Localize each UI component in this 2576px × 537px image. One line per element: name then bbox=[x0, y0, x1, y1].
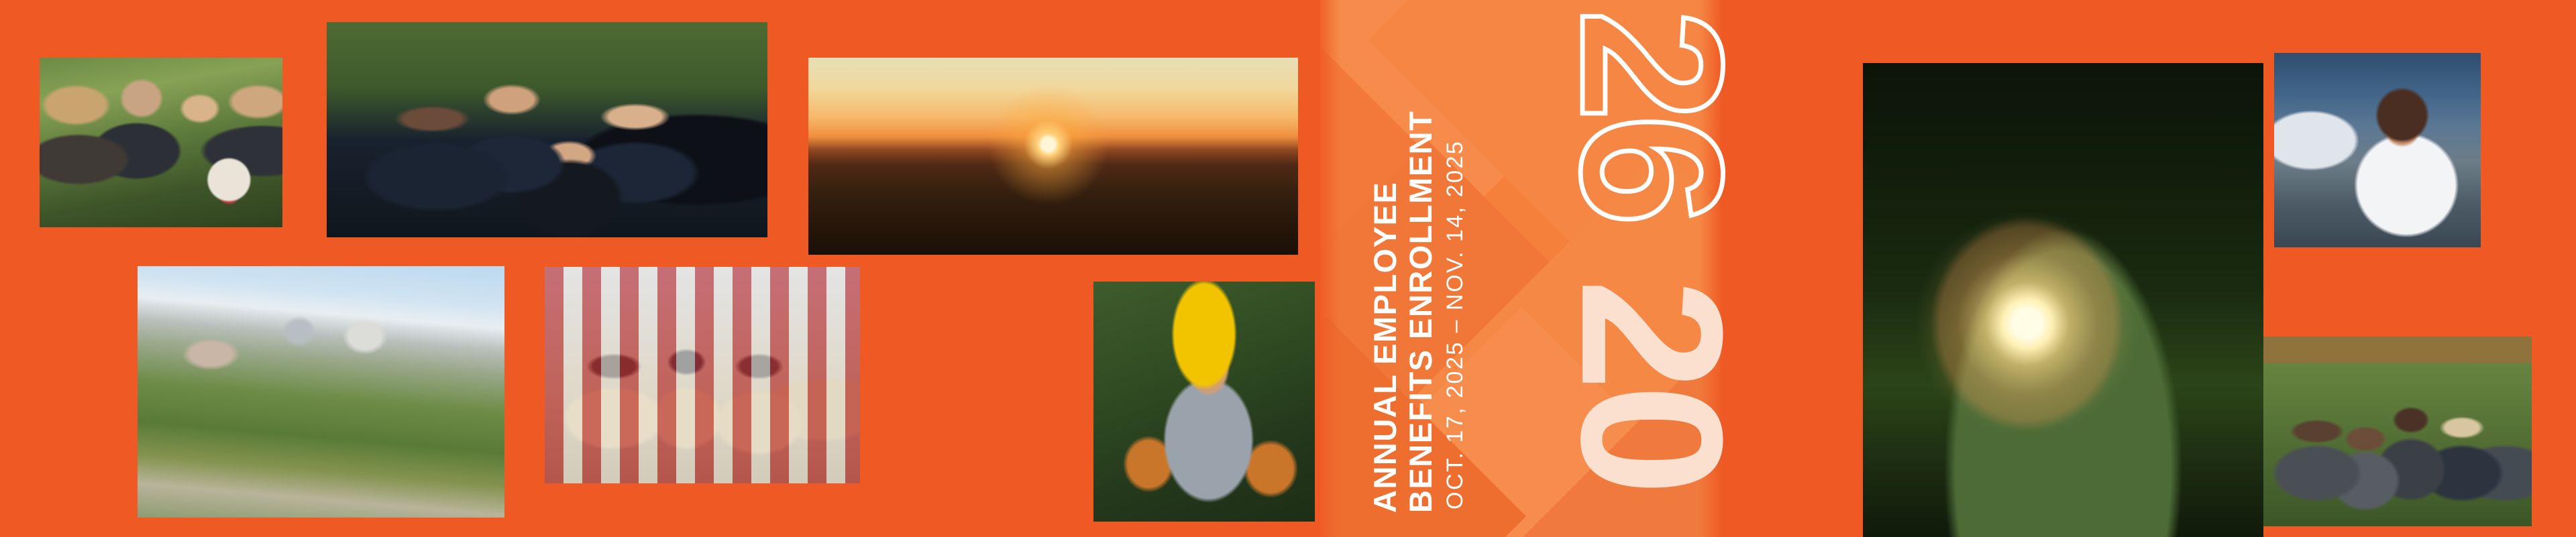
photo-firefighters bbox=[545, 267, 860, 483]
photo-animal-services-image bbox=[40, 58, 282, 227]
enrollment-banner: 26 20 ANNUAL EMPLOYEE BENEFITS ENROLLMEN… bbox=[0, 0, 2576, 537]
photo-lineworker-image bbox=[1093, 282, 1315, 522]
photo-sunset-image bbox=[808, 58, 1298, 255]
headline-line-2: BENEFITS ENROLLMENT bbox=[1402, 111, 1439, 513]
photo-lab-scientist-image bbox=[2274, 53, 2481, 247]
photo-volunteer-team-image bbox=[2263, 337, 2532, 526]
photo-live-oaks-image bbox=[1863, 63, 2263, 537]
photo-police-team-image bbox=[327, 22, 767, 237]
photo-lab-scientist bbox=[2274, 53, 2481, 247]
photo-city-aerial-image bbox=[138, 266, 504, 518]
photo-police-team bbox=[327, 22, 767, 237]
panel-left-fade bbox=[1320, 0, 1340, 537]
panel-right-fade bbox=[1699, 0, 1741, 537]
photo-live-oaks bbox=[1863, 63, 2263, 537]
photo-volunteer-team bbox=[2263, 337, 2532, 526]
photo-firefighters-image bbox=[545, 267, 860, 483]
headline-line-1: ANNUAL EMPLOYEE bbox=[1366, 182, 1403, 513]
photo-animal-services bbox=[40, 58, 282, 227]
photo-city-aerial bbox=[138, 266, 504, 518]
photo-lineworker bbox=[1093, 282, 1315, 522]
enrollment-date-range: OCT. 17, 2025 – NOV. 14, 2025 bbox=[1442, 140, 1468, 510]
photo-sunset bbox=[808, 58, 1298, 255]
